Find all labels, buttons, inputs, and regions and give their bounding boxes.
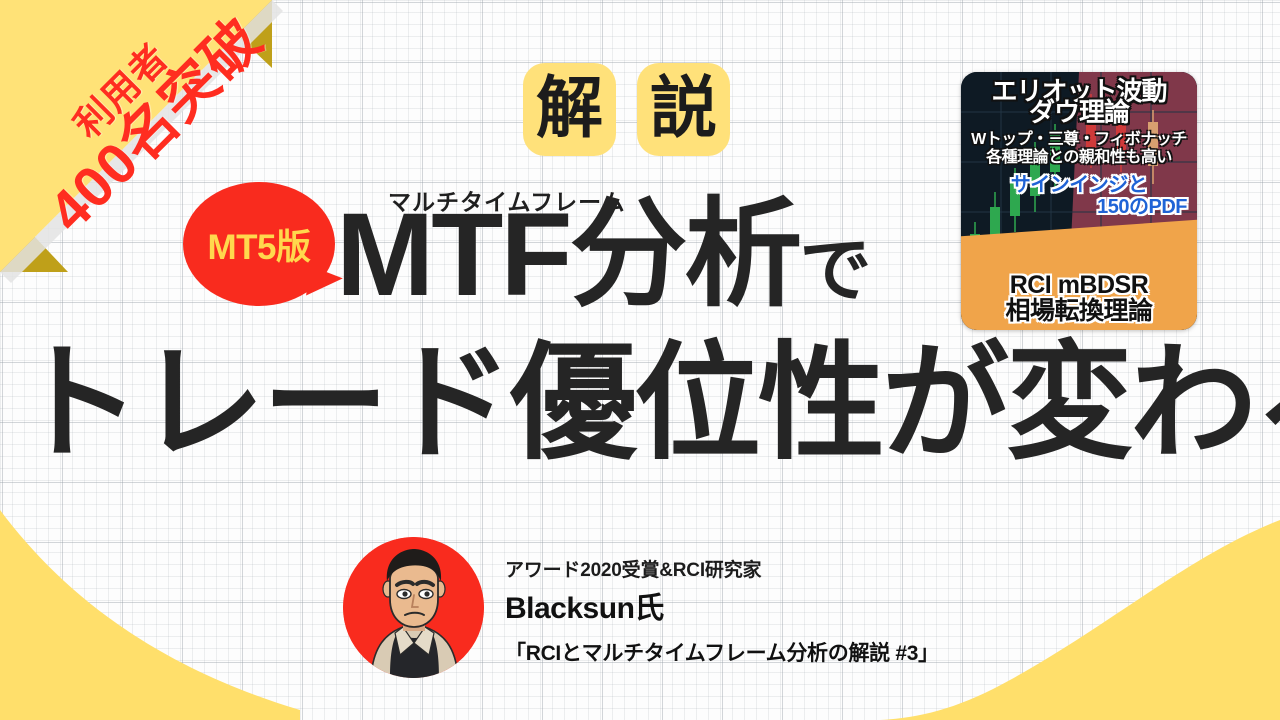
- mt5-badge-label: MT5版: [207, 219, 310, 270]
- promo-thumbnail[interactable]: エリオット波動 ダウ理論 Wトップ・三尊・フィボナッチ 各種理論との親和性も高い…: [961, 72, 1197, 330]
- profile-text: アワード2020受賞&RCI研究家 Blacksun氏: [505, 555, 761, 627]
- promo-subtitle-line-1: Wトップ・三尊・フィボナッチ: [965, 131, 1193, 149]
- promo-title: エリオット波動 ダウ理論: [965, 80, 1193, 125]
- promo-subtitle: Wトップ・三尊・フィボナッチ 各種理論との親和性も高い: [965, 131, 1193, 167]
- promo-footer-line-1: RCI mBDSR: [1010, 271, 1149, 299]
- promo-subtitle-line-2: 各種理論との親和性も高い: [965, 149, 1193, 167]
- profile-role: アワード2020受賞&RCI研究家: [505, 555, 761, 582]
- promo-footer: RCI mBDSR 相場転換理論: [961, 273, 1197, 324]
- kaisetsu-badge-2: 説: [637, 63, 730, 156]
- headline-line-2: トレード優位性が変わる: [14, 340, 1280, 467]
- headline-line-1: MTF分析で: [336, 196, 869, 314]
- kaisetsu-badge-1: 解: [523, 63, 616, 156]
- promo-text-block: エリオット波動 ダウ理論 Wトップ・三尊・フィボナッチ 各種理論との親和性も高い…: [961, 72, 1197, 330]
- promo-footer-line-2: 相場転換理論: [961, 299, 1197, 324]
- thumbnail-canvas: 利用者 400名突破 解 説 MT5版 マルチタイムフレーム MTF分析で トレ…: [0, 0, 1280, 720]
- kaisetsu-badge-group: 解 説: [523, 63, 730, 156]
- profile-subtitle: 「RCIとマルチタイムフレーム分析の解説 #3」: [505, 637, 939, 667]
- mt5-speech-bubble: MT5版: [183, 182, 335, 306]
- profile-name: Blacksun氏: [505, 583, 761, 627]
- promo-highlight-line-2: 150のPDF: [965, 197, 1193, 217]
- avatar: [343, 537, 484, 678]
- avatar-illustration: [343, 537, 484, 678]
- promo-highlight-line-1: サインインジと: [1011, 174, 1148, 196]
- promo-highlight: サインインジと 150のPDF: [965, 175, 1193, 217]
- headline-line-1-main: MTF分析: [336, 189, 799, 321]
- headline-line-1-tail: で: [799, 231, 869, 311]
